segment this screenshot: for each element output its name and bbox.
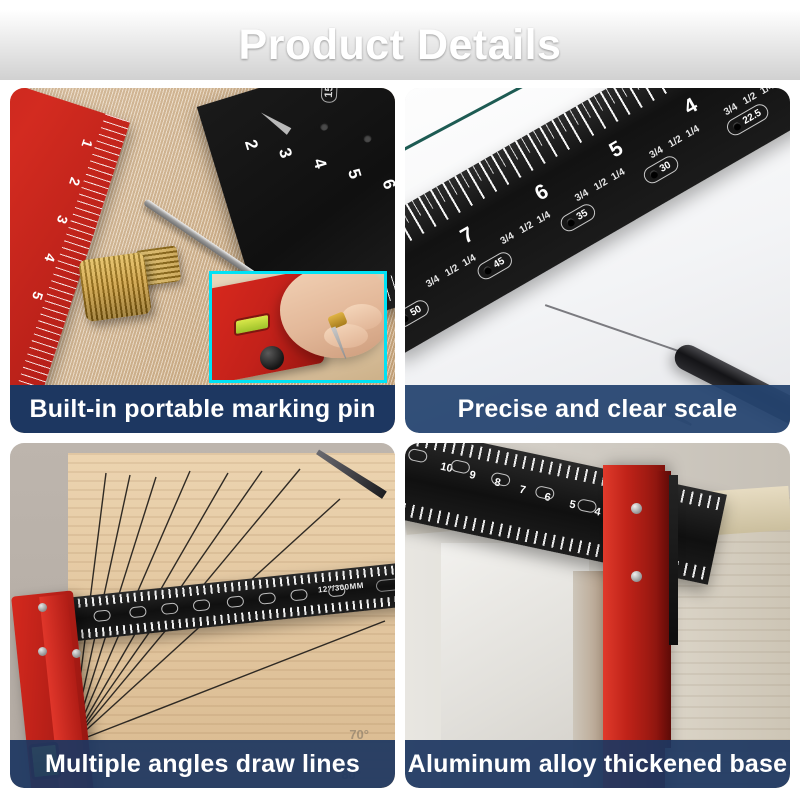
product-detail-grid: 1 2 3 4 5 2 3 4 5 6 7 15 22 xyxy=(10,88,790,790)
ruler-number: 9 xyxy=(468,469,476,482)
caption-bar-marking-pin: Built-in portable marking pin xyxy=(10,385,395,433)
angle-hole-pill xyxy=(450,459,471,475)
angle-hole-pill xyxy=(93,609,111,622)
page-header-band: Product Details xyxy=(0,10,800,80)
angle-hole-pill xyxy=(258,592,276,605)
fraction-mark: 1/2 xyxy=(443,263,461,279)
photo-marking-pin: 1 2 3 4 5 2 3 4 5 6 7 15 22 xyxy=(10,88,395,433)
angle-hole xyxy=(565,217,576,228)
screw xyxy=(38,647,47,656)
angle-hole-pill xyxy=(193,599,211,612)
inset-photo-marking-pin-in-use[interactable] xyxy=(209,271,387,383)
angle-hole xyxy=(648,169,659,180)
fraction-mark: 3/4 xyxy=(573,188,591,204)
black-ruler-number: 4 xyxy=(308,156,330,171)
caption-bar-precise-scale: Precise and clear scale xyxy=(405,385,790,433)
angle-hole-pill xyxy=(407,448,428,464)
angle-hole-pill: 35 xyxy=(558,201,599,234)
page-title: Product Details xyxy=(239,21,562,70)
angle-hole xyxy=(405,313,410,324)
ruler-number: 7 xyxy=(518,484,526,497)
angle-hole xyxy=(731,121,742,132)
caption-text: Precise and clear scale xyxy=(458,395,738,424)
caption-text: Multiple angles draw lines xyxy=(45,750,360,779)
fraction-mark: 1/4 xyxy=(610,167,628,183)
angle-hole-pill xyxy=(290,589,308,602)
panel-multiple-angles[interactable]: 12"/300MM 70° 80° Multiple angle xyxy=(10,443,395,788)
ruler-number: 6 xyxy=(531,180,553,207)
angle-hole-pill xyxy=(161,602,179,615)
screw xyxy=(631,571,642,582)
angle-hole xyxy=(482,265,493,276)
angle-hole-pill xyxy=(129,606,147,619)
black-ruler-number: 3 xyxy=(274,146,296,161)
angle-hole-pill xyxy=(534,485,555,501)
fraction-mark: 1/4 xyxy=(535,210,553,226)
angle-hole-pill xyxy=(328,585,346,598)
fraction-mark: 1/2 xyxy=(592,177,610,193)
red-ruler-number: 5 xyxy=(29,290,47,302)
marking-pin-brass-knob xyxy=(78,252,152,323)
black-blade-edge xyxy=(669,475,678,645)
angle-hole-pill: 30 xyxy=(641,153,682,186)
screw xyxy=(631,503,642,514)
red-ruler-number: 4 xyxy=(42,252,60,264)
photo-multiple-angles: 12"/300MM 70° 80° xyxy=(10,443,395,788)
ruler-number: 5 xyxy=(605,137,627,164)
panel-precise-scale[interactable]: 8 7 6 5 4 3 2 3/4 1/2 1/4 3/4 1/2 1/4 3/… xyxy=(405,88,790,433)
ruler-number: 7 xyxy=(456,223,478,250)
black-ruler-number: 6 xyxy=(378,177,395,192)
black-ruler-number: 5 xyxy=(343,166,365,181)
fraction-mark: 3/4 xyxy=(424,274,442,290)
screw xyxy=(72,649,81,658)
caption-text: Aluminum alloy thickened base xyxy=(408,750,788,779)
caption-bar-aluminum-base: Aluminum alloy thickened base xyxy=(405,740,790,788)
red-ruler-number: 1 xyxy=(79,137,97,149)
angle-hole-pill xyxy=(226,595,244,608)
fraction-mark: 1/2 xyxy=(667,134,685,150)
fraction-mark: 1/2 xyxy=(518,220,536,236)
angle-hole-pill: 45 xyxy=(474,249,515,282)
angle-hole-pill: 50 xyxy=(405,297,432,330)
photo-aluminum-base: 1 2 3 4 5 6 7 8 9 10 xyxy=(405,443,790,788)
fraction-mark: 3/4 xyxy=(499,231,517,247)
angle-hole xyxy=(319,122,329,132)
angle-hole xyxy=(362,133,372,143)
angle-hole-label: 15 xyxy=(321,88,338,103)
ruler-number: 4 xyxy=(680,94,702,121)
red-ruler-number: 3 xyxy=(54,214,72,226)
ruler-number: 5 xyxy=(568,498,576,511)
caption-bar-multiple-angles: Multiple angles draw lines xyxy=(10,740,395,788)
fraction-mark: 1/4 xyxy=(758,88,776,97)
ruler-slot xyxy=(375,577,395,592)
photo-precise-scale: 8 7 6 5 4 3 2 3/4 1/2 1/4 3/4 1/2 1/4 3/… xyxy=(405,88,790,433)
fraction-mark: 1/4 xyxy=(461,253,479,269)
screw xyxy=(38,603,47,612)
caption-text: Built-in portable marking pin xyxy=(29,395,375,424)
panel-marking-pin[interactable]: 1 2 3 4 5 2 3 4 5 6 7 15 22 xyxy=(10,88,395,433)
red-ruler-number: 2 xyxy=(66,176,84,188)
black-knob xyxy=(260,346,284,370)
black-ruler-number: 2 xyxy=(240,137,262,152)
fraction-mark: 1/4 xyxy=(684,124,702,140)
panel-aluminum-base[interactable]: 1 2 3 4 5 6 7 8 9 10 xyxy=(405,443,790,788)
